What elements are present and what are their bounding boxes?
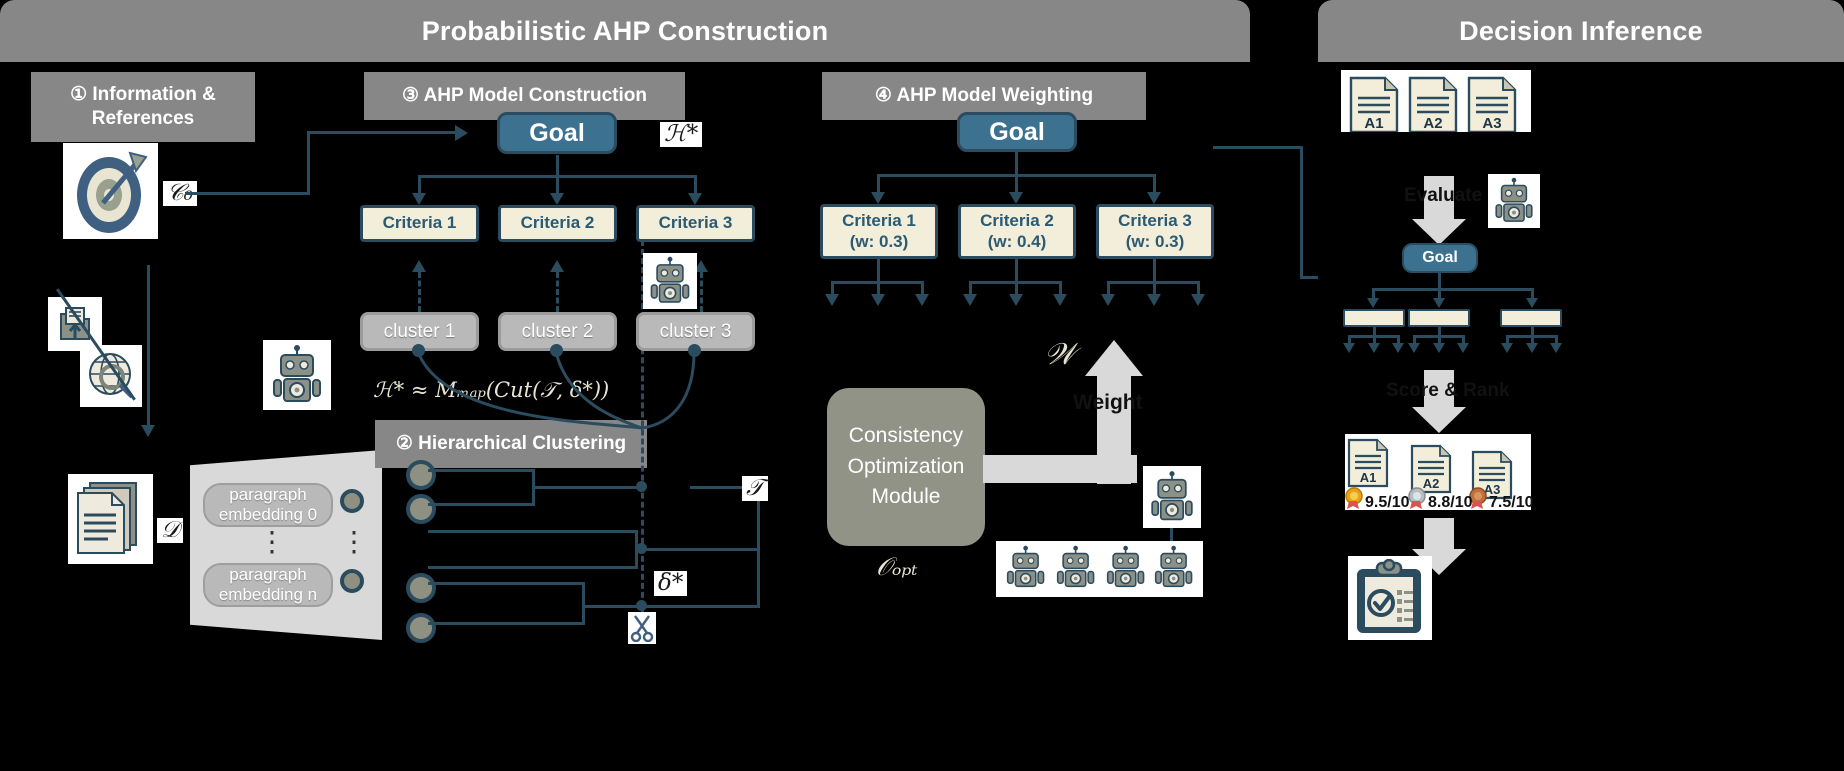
target-icon bbox=[63, 143, 158, 239]
context-to-goal-v bbox=[307, 131, 310, 195]
score-a1: 9.5/10 bbox=[1365, 494, 1409, 512]
context-to-goal-h2 bbox=[307, 131, 457, 134]
to-inference-v bbox=[1300, 146, 1303, 278]
embedding-ellipsis-left: ⋮ bbox=[258, 535, 278, 549]
stage-tag-information-references: ① Information & References bbox=[31, 72, 255, 142]
dendrogram-leaf-4 bbox=[406, 613, 436, 643]
context-to-goal-h1 bbox=[185, 192, 310, 195]
w-arrowhead-2 bbox=[1009, 192, 1023, 204]
score-rank-arrow-label: Score & Rank bbox=[1386, 380, 1510, 402]
module-symbol: 𝒪ₒₚₜ bbox=[876, 552, 918, 582]
i-arrowhead-2 bbox=[1433, 298, 1445, 308]
robot-icon-clustering bbox=[263, 340, 331, 410]
svg-text:A1: A1 bbox=[1364, 115, 1383, 132]
svg-text:A2: A2 bbox=[1423, 115, 1442, 132]
i-arrowhead-1 bbox=[1367, 298, 1379, 308]
svg-text:A1: A1 bbox=[1360, 470, 1377, 485]
svg-text:A2: A2 bbox=[1423, 476, 1440, 491]
dendro-h-merge-b bbox=[635, 548, 760, 551]
cluster-to-criteria-3 bbox=[700, 272, 703, 312]
w1-arrow-a bbox=[825, 294, 839, 306]
i2-arrow-c bbox=[1457, 343, 1469, 353]
i3-arrow-c bbox=[1550, 343, 1562, 353]
module-line-2: Optimization bbox=[848, 452, 965, 482]
c-goal-stem bbox=[556, 155, 559, 177]
embedding-dot-last bbox=[340, 569, 364, 593]
score-a2: 8.8/10 bbox=[1428, 494, 1472, 512]
weighting-criteria-2[interactable]: Criteria 2 (w: 0.4) bbox=[958, 204, 1076, 259]
i2-arrow-a bbox=[1408, 343, 1420, 353]
module-line-1: Consistency bbox=[849, 421, 963, 451]
robot-icon-inference bbox=[1488, 174, 1540, 228]
cut-symbol: δ* bbox=[654, 571, 687, 596]
w2-arrow-a bbox=[963, 294, 977, 306]
i-goal-bus bbox=[1372, 288, 1534, 291]
w2-arrow-c bbox=[1053, 294, 1067, 306]
w1-stem bbox=[877, 259, 880, 281]
module-line-3: Module bbox=[872, 482, 941, 512]
w-arrowhead-1 bbox=[871, 192, 885, 204]
weighting-criteria-1[interactable]: Criteria 1 (w: 0.3) bbox=[820, 204, 938, 259]
c-arrowhead-3 bbox=[688, 193, 702, 205]
w1-arrow-b bbox=[871, 294, 885, 306]
evaluate-arrow-label: Evaluate bbox=[1404, 185, 1482, 207]
decision-inference-title: Decision Inference bbox=[1459, 16, 1703, 47]
dendro-h-leaf3 bbox=[428, 582, 585, 585]
scissors-icon bbox=[628, 612, 656, 644]
cluster-to-criteria-1 bbox=[418, 272, 421, 312]
robot-icon-judge bbox=[1143, 466, 1201, 528]
cut-point-2 bbox=[636, 543, 647, 554]
paragraph-embedding-last: paragraph embedding n bbox=[203, 563, 333, 607]
dendro-h-leaf5 bbox=[428, 530, 638, 533]
weights-symbol: 𝒲 bbox=[1044, 337, 1075, 372]
c-arrowhead-2 bbox=[550, 193, 564, 205]
dendrogram-leaf-3 bbox=[406, 573, 436, 603]
documents-icon bbox=[68, 474, 153, 564]
construction-criteria-1[interactable]: Criteria 1 bbox=[360, 205, 479, 242]
i1-arrow-a bbox=[1343, 343, 1355, 353]
hierarchy-symbol: ℋ* bbox=[660, 122, 702, 147]
sources-to-documents-arrowhead bbox=[141, 425, 155, 437]
cluster-arrowhead-1 bbox=[412, 260, 426, 272]
cut-point-3 bbox=[636, 600, 647, 611]
i3-arrow-b bbox=[1526, 343, 1538, 353]
context-to-goal-arrowhead bbox=[455, 125, 468, 141]
inference-criteria-node-2[interactable] bbox=[1408, 309, 1470, 327]
clipboard-check-icon bbox=[1348, 556, 1432, 640]
construction-criteria-2[interactable]: Criteria 2 bbox=[498, 205, 617, 242]
dendro-h-leaf2 bbox=[428, 503, 535, 506]
cluster-link-curves bbox=[350, 340, 770, 500]
construction-goal-node[interactable]: Goal bbox=[497, 112, 617, 154]
i1-arrow-b bbox=[1368, 343, 1380, 353]
w-arrowhead-3 bbox=[1147, 192, 1161, 204]
score-rank-arrow-head bbox=[1412, 407, 1466, 433]
sources-to-documents-line bbox=[147, 265, 150, 430]
inference-goal-node[interactable]: Goal bbox=[1402, 243, 1478, 273]
i1-arrow-c bbox=[1392, 343, 1404, 353]
evaluate-arrow-head bbox=[1412, 219, 1466, 245]
w-goal-stem bbox=[1015, 152, 1018, 176]
weighting-goal-node[interactable]: Goal bbox=[957, 112, 1077, 152]
weight-arrow-shaft-vertical bbox=[1097, 372, 1131, 484]
page-title: Probabilistic AHP Construction bbox=[422, 16, 829, 47]
w3-stem bbox=[1153, 259, 1156, 281]
inference-criteria-node-3[interactable] bbox=[1500, 309, 1562, 327]
panel-header-right: Decision Inference bbox=[1318, 0, 1844, 62]
robot-icon-construction bbox=[643, 253, 697, 309]
w1-arrow-c bbox=[915, 294, 929, 306]
weighting-criteria-3[interactable]: Criteria 3 (w: 0.3) bbox=[1096, 204, 1214, 259]
panel-header-left: Probabilistic AHP Construction bbox=[0, 0, 1250, 62]
inference-criteria-node-1[interactable] bbox=[1343, 309, 1405, 327]
w3-arrow-b bbox=[1147, 294, 1161, 306]
report-arrow-shaft bbox=[1424, 518, 1454, 550]
c-arrowhead-1 bbox=[412, 193, 426, 205]
w2-stem bbox=[1015, 259, 1018, 281]
svg-text:A3: A3 bbox=[1482, 115, 1501, 132]
weight-arrow-head bbox=[1085, 340, 1143, 376]
dendro-v-root bbox=[757, 486, 760, 608]
dendro-h-leaf6 bbox=[428, 566, 638, 569]
w3-arrow-a bbox=[1101, 294, 1115, 306]
construction-criteria-3[interactable]: Criteria 3 bbox=[636, 205, 755, 242]
paragraph-embedding-first: paragraph embedding 0 bbox=[203, 483, 333, 527]
dendro-h-leaf4 bbox=[428, 622, 585, 625]
score-a3: 7.5/10 bbox=[1489, 494, 1533, 512]
cluster-arrowhead-2 bbox=[550, 260, 564, 272]
i2-arrow-b bbox=[1433, 343, 1445, 353]
i3-arrow-a bbox=[1501, 343, 1513, 353]
i-arrowhead-3 bbox=[1526, 298, 1538, 308]
dendro-h-merge-c bbox=[582, 605, 760, 608]
w2-arrow-b bbox=[1009, 294, 1023, 306]
weight-arrow-label: Weight bbox=[1073, 391, 1143, 415]
alternatives-group: A1 A2 A3 bbox=[1341, 70, 1531, 132]
w3-arrow-c bbox=[1191, 294, 1205, 306]
robot-committee bbox=[996, 541, 1203, 597]
consistency-optimization-module: Consistency Optimization Module bbox=[827, 388, 985, 546]
documents-symbol: 𝒟 bbox=[157, 518, 183, 543]
cluster-to-criteria-2 bbox=[556, 272, 559, 312]
embedding-ellipsis-right: ⋮ bbox=[340, 535, 360, 549]
dendro-v-merge-c bbox=[582, 582, 585, 625]
to-inference-h1 bbox=[1213, 146, 1303, 149]
